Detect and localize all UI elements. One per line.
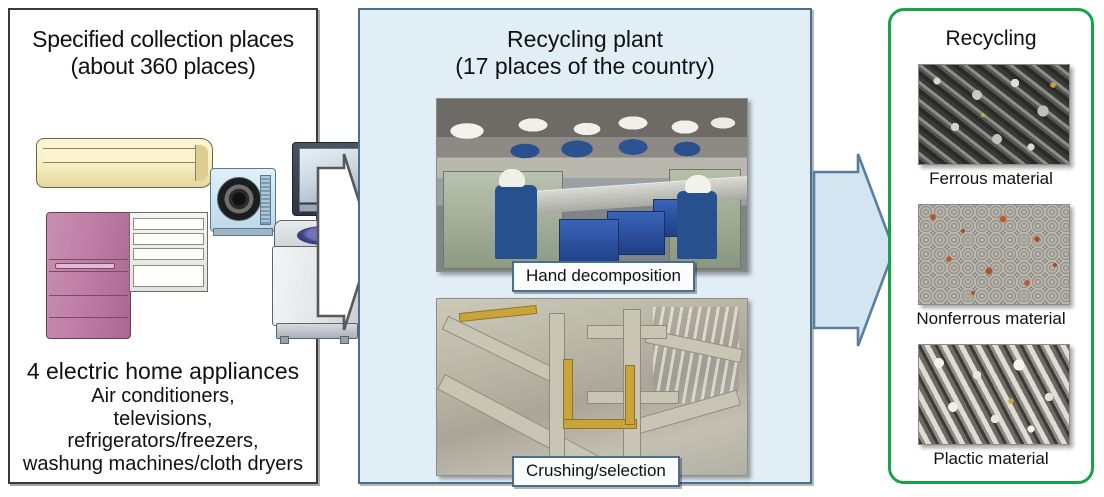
photo-worker-helmet [499,169,525,187]
recycling-output-panel: Recycling Ferrous material Nonferrous ma… [888,8,1094,484]
appliance-list-item: washung machines/cloth dryers [10,453,316,476]
refrigerator-door-shelf [133,265,204,287]
recycling-plant-title-line1: Recycling plant [360,26,810,53]
hand-decomposition-label: Hand decomposition [512,261,695,292]
refrigerator-door-shelf [133,233,204,245]
crushing-selection-photo [436,298,748,476]
refrigerator-handle [55,263,115,269]
recycling-plant-panel: Recycling plant (17 places of the countr… [358,8,812,484]
ferrous-material-caption: Ferrous material [891,169,1091,189]
recycling-plant-title: Recycling plant (17 places of the countr… [360,26,810,80]
compressor-base [213,228,273,236]
refrigerator-body [46,212,131,339]
collection-places-title: Specified collection places (about 360 p… [10,26,316,80]
diagram-canvas: Specified collection places (about 360 p… [0,0,1104,497]
arrow-plant-to-recycling [812,150,896,350]
collection-places-panel: Specified collection places (about 360 p… [8,8,318,484]
collection-places-title-line1: Specified collection places [10,26,316,53]
appliance-list-item: televisions, [10,408,316,431]
air-conditioner-indoor-unit-icon [36,138,213,188]
appliance-list-item: Air conditioners, [10,385,316,408]
refrigerator-door-shelf [133,218,204,230]
ferrous-material-photo [918,64,1070,165]
collection-places-title-line2: (about 360 places) [10,53,316,80]
recycling-title: Recycling [891,27,1091,51]
photo-worker-helmet [685,175,711,193]
plastic-material-caption: Plactic material [891,449,1091,469]
compressor-fan-icon [217,177,261,221]
washing-machine-leg [340,336,349,344]
recycling-plant-title-line2: (17 places of the country) [360,53,810,80]
refrigerator-divider [49,317,128,318]
appliance-list: 4 electric home appliances Air condition… [10,358,316,476]
refrigerator-icon [46,212,206,337]
refrigerator-divider [49,295,128,296]
photo-worker [677,191,717,259]
refrigerator-door-shelf [133,248,204,260]
washing-machine-leg [280,336,289,344]
photo-blue-crate [559,219,619,267]
plastic-material-photo [918,344,1070,445]
photo-yellow-rail [625,365,635,425]
refrigerator-divider [49,271,128,272]
photo-yellow-rail [459,305,538,322]
refrigerator-open-door [129,212,208,292]
hand-decomposition-photo [436,98,748,272]
appliance-list-item: refrigerators/freezers, [10,430,316,453]
nonferrous-material-caption: Nonferrous material [891,309,1091,329]
photo-yellow-rail [563,359,573,427]
appliance-list-heading: 4 electric home appliances [10,358,316,385]
air-conditioner-outdoor-unit-icon [210,168,276,232]
photo-worker [495,185,537,259]
appliance-illustrations [10,120,316,340]
nonferrous-material-photo [918,204,1070,305]
compressor-grille-icon [260,175,271,225]
refrigerator-divider [49,259,128,260]
crushing-selection-label: Crushing/selection [512,456,680,487]
